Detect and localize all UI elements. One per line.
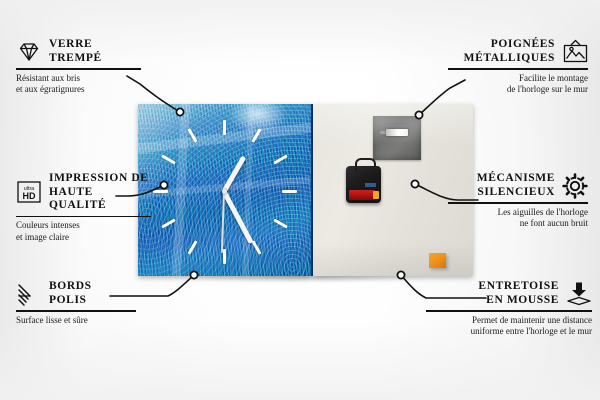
callout-title-line2: MÉTALLIQUES: [464, 52, 555, 66]
gear-icon: [562, 173, 588, 199]
callout-title-line2: POLIS: [49, 294, 92, 308]
clock-tick: [153, 190, 168, 193]
clock-tick: [223, 249, 226, 264]
clock-tick: [223, 120, 226, 135]
diamond-icon: [16, 39, 42, 65]
callout-rule: [426, 310, 592, 312]
callout-sub-line2: uniforme entre l'horloge et le mur: [426, 326, 592, 338]
callout-title-line2: EN MOUSSE: [478, 294, 559, 308]
product-image: [138, 104, 473, 276]
callout-sub-line2: de l'horloge sur le mur: [448, 84, 588, 96]
clock-tick: [282, 190, 297, 193]
callout-sub-line2: ne font aucun bruit: [448, 218, 588, 230]
callout-sub-line1: Résistant aux bris: [16, 73, 141, 85]
callout-poignees-metalliques: POIGNÉES MÉTALLIQUES Facilite le montage…: [448, 38, 588, 96]
callout-verre-trempe: VERRE TREMPÉ Résistant aux bris et aux é…: [16, 38, 141, 96]
infographic-canvas: VERRE TREMPÉ Résistant aux bris et aux é…: [0, 0, 600, 400]
callout-rule: [448, 68, 588, 70]
callout-rule: [16, 310, 136, 312]
callout-sub-line1: Permet de maintenir une distance: [426, 315, 592, 327]
callout-bords-polis: BORDS POLIS Surface lisse et sûre: [16, 280, 136, 326]
callout-title-line1: VERRE: [49, 38, 102, 52]
callout-title-line1: ENTRETOISE: [478, 280, 559, 294]
callout-mecanisme-silencieux: MÉCANISME SILENCIEUX Les aiguilles de l'…: [448, 172, 588, 230]
callout-sub-line2: et image claire: [16, 232, 151, 244]
callout-impression-haute-qualite: ultra HD IMPRESSION DE HAUTE QUALITÉ Cou…: [16, 172, 151, 243]
callout-entretoise-en-mousse: ENTRETOISE EN MOUSSE Permet de maintenir…: [426, 280, 592, 338]
callout-title-line2: SILENCIEUX: [477, 186, 555, 200]
polished-edges-icon: [16, 281, 42, 307]
callout-sub-line2: et aux égratignures: [16, 84, 141, 96]
metal-hanger-plate: [373, 116, 421, 160]
callout-sub-line1: Les aiguilles de l'horloge: [448, 207, 588, 219]
svg-text:HD: HD: [23, 191, 36, 201]
callout-rule: [16, 68, 141, 70]
clock-face: [138, 104, 311, 276]
callout-title-line1: BORDS: [49, 280, 92, 294]
callout-title-line2: TREMPÉ: [49, 52, 102, 66]
clock-center-cap: [222, 189, 227, 194]
callout-rule: [16, 216, 151, 218]
callout-sub-line1: Facilite le montage: [448, 73, 588, 85]
foam-spacer-icon: [566, 281, 592, 307]
callout-title-line1: MÉCANISME: [477, 172, 555, 186]
callout-rule: [448, 202, 588, 204]
clock-mechanism: [346, 166, 381, 203]
callout-title-line1: POIGNÉES: [464, 38, 555, 52]
callout-sub-line1: Surface lisse et sûre: [16, 315, 136, 327]
picture-hanger-icon: [562, 39, 588, 65]
callout-title-line2: HAUTE QUALITÉ: [49, 186, 151, 213]
battery: [349, 190, 375, 200]
callout-title-line1: IMPRESSION DE: [49, 172, 151, 186]
foam-spacer: [429, 253, 446, 268]
callout-sub-line1: Couleurs intenses: [16, 220, 151, 232]
ultra-hd-icon: ultra HD: [16, 179, 42, 205]
